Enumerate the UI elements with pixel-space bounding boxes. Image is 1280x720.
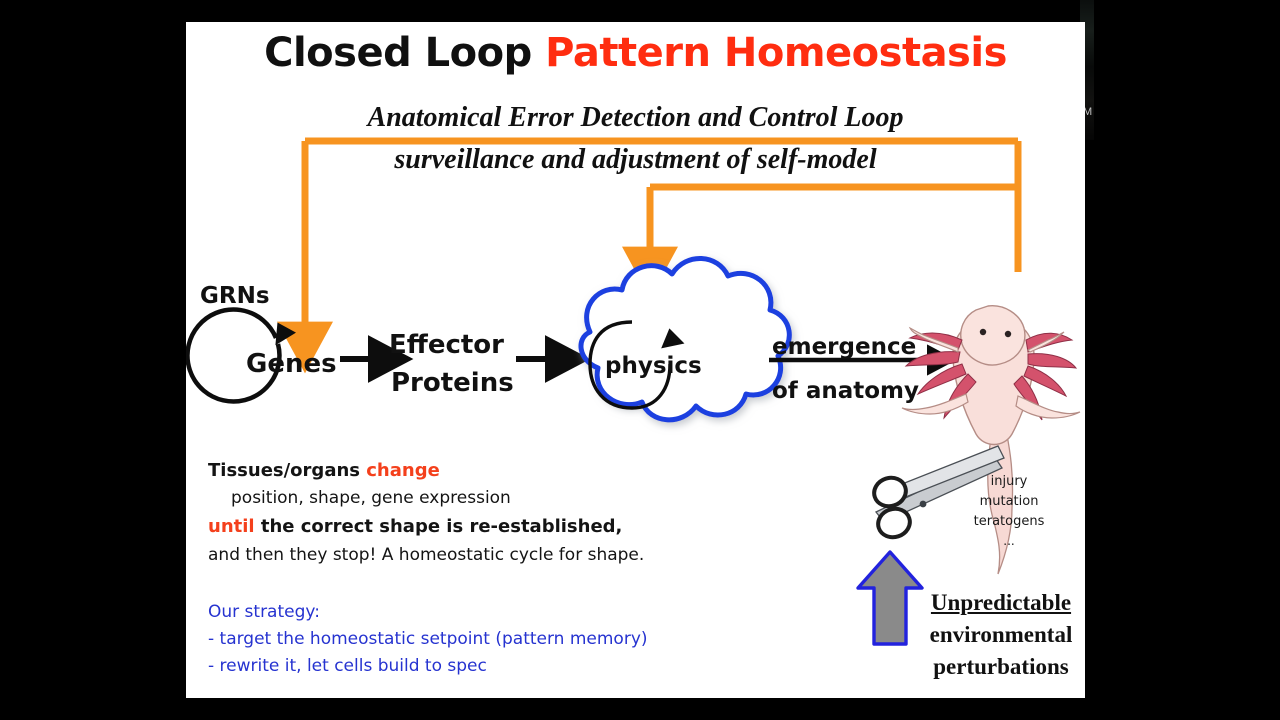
physics-cloud xyxy=(581,258,789,419)
body-line-1-emphasis: change xyxy=(366,460,440,481)
perturbation-caption-line-2: environmental xyxy=(886,622,1085,648)
physics-label: physics xyxy=(605,353,702,379)
emergence-label-1: emergence xyxy=(772,334,916,360)
screen: M Closed Loop Pattern Homeostasis Anatom… xyxy=(0,0,1280,720)
perturbation-caption-line-1: Unpredictable xyxy=(886,590,1085,616)
perturbation-item-mutation: mutation xyxy=(949,494,1069,509)
body-line-3-emphasis: until xyxy=(208,516,255,537)
perturbation-item-ellipsis: ... xyxy=(949,534,1069,548)
genes-label: Genes xyxy=(246,349,337,379)
perturbation-item-teratogens: teratogens xyxy=(949,514,1069,529)
strategy-bullet-1: - target the homeostatic setpoint (patte… xyxy=(208,629,648,649)
body-line-2: position, shape, gene expression xyxy=(231,488,511,508)
effector-label-1: Effector xyxy=(389,330,504,360)
strategy-bullet-2: - rewrite it, let cells build to spec xyxy=(208,656,487,676)
effector-label-2: Proteins xyxy=(391,368,514,398)
body-line-1: Tissues/organs change xyxy=(208,460,440,481)
emergence-label-2: of anatomy xyxy=(772,378,919,404)
body-line-4: and then they stop! A homeostatic cycle … xyxy=(208,545,644,565)
perturbation-item-injury: injury xyxy=(949,474,1069,489)
body-line-3-plain: the correct shape is re-established, xyxy=(255,516,623,537)
perturbation-caption-line-3: perturbations xyxy=(886,654,1085,680)
strategy-heading: Our strategy: xyxy=(208,602,320,622)
body-line-3: until the correct shape is re-establishe… xyxy=(208,516,622,537)
grns-label: GRNs xyxy=(200,283,270,309)
body-line-1-plain: Tissues/organs xyxy=(208,460,366,481)
presentation-slide: Closed Loop Pattern Homeostasis Anatomic… xyxy=(186,22,1085,698)
